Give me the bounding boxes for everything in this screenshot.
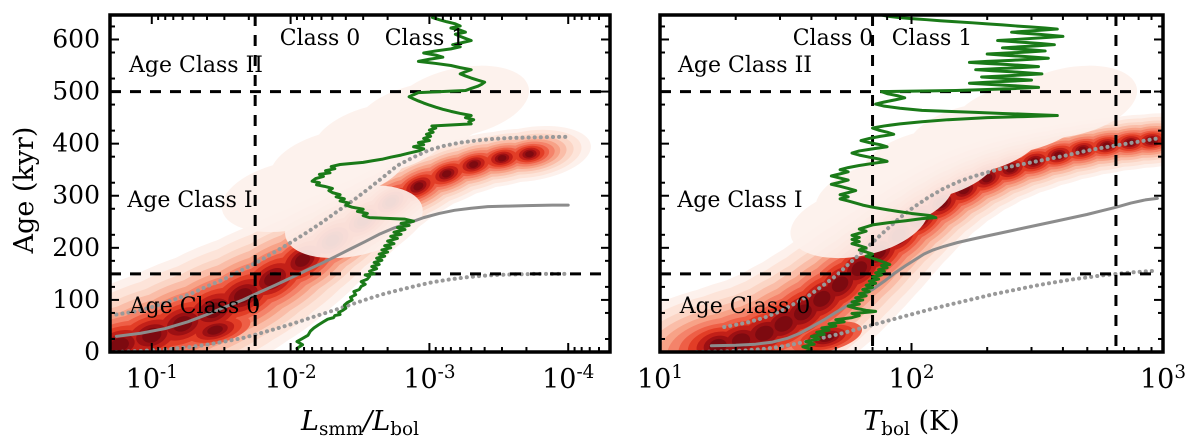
age-class-annotation: Age Class 0 <box>129 294 261 319</box>
class-annotation: Class 0 <box>280 26 361 51</box>
class-annotation: Class 0 <box>793 26 874 51</box>
y-tick-label: 600 <box>52 24 100 53</box>
age-class-annotation: Age Class I <box>126 188 252 213</box>
age-class-annotation: Age Class II <box>677 53 812 78</box>
y-tick-label: 300 <box>52 181 100 210</box>
y-tick-label: 500 <box>52 77 100 106</box>
y-tick-label: 0 <box>84 337 100 366</box>
class-annotation: Class 1 <box>385 26 466 51</box>
age-class-annotation: Age Class II <box>128 53 263 78</box>
y-axis-title: Age (kyr) <box>9 127 40 255</box>
figure-root: 0100200300400500600Age (kyr)10-110-210-3… <box>0 0 1200 443</box>
x-axis-title: Tbol (K) <box>863 406 960 440</box>
age-class-annotation: Age Class 0 <box>679 294 811 319</box>
y-tick-label: 200 <box>52 233 100 262</box>
y-tick-label: 400 <box>52 129 100 158</box>
figure-canvas: 0100200300400500600Age (kyr)10-110-210-3… <box>0 0 1200 443</box>
class-annotation: Class 1 <box>892 26 973 51</box>
age-class-annotation: Age Class I <box>676 188 802 213</box>
y-tick-label: 100 <box>52 285 100 314</box>
